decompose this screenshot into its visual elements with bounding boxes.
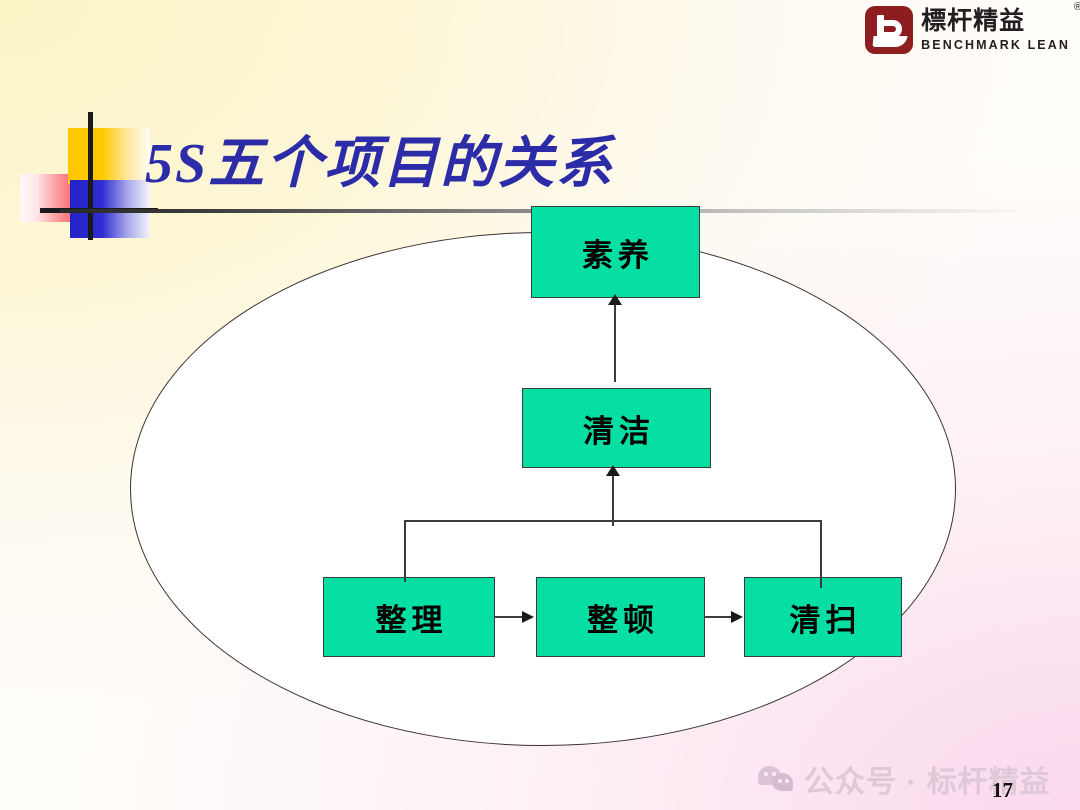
connector-group-to-qingjie (612, 468, 614, 526)
node-zhengli[interactable]: 整理 (323, 577, 495, 657)
wechat-icon (758, 766, 794, 792)
watermark-text: 公众号 · 标杆精益 (804, 757, 1051, 801)
connector-bottom-bracket (404, 520, 822, 522)
diagram-ellipse-container (130, 232, 956, 746)
arrowhead-group-to-qingjie-icon (606, 465, 620, 476)
arrowhead-zhengdun-to-qingsao-icon (731, 611, 743, 623)
node-suyang[interactable]: 素养 (531, 206, 700, 298)
arrowhead-zhengli-to-zhengdun-icon (522, 611, 534, 623)
page-number: 17 (992, 778, 1013, 803)
connector-bracket-to-zhengli (404, 520, 406, 582)
arrowhead-qingjie-to-suyang-icon (608, 294, 622, 305)
connector-qingjie-to-suyang (614, 298, 616, 382)
node-zhengdun[interactable]: 整顿 (536, 577, 705, 657)
connector-bracket-to-qingsao (820, 520, 822, 588)
node-qingjie[interactable]: 清洁 (522, 388, 711, 468)
slide-canvas: 標杆精益® BENCHMARK LEAN 5S五个项目的关系 素养 清洁 整理 … (0, 0, 1080, 810)
node-qingsao[interactable]: 清扫 (744, 577, 902, 657)
relationship-diagram: 素养 清洁 整理 整顿 清扫 (0, 0, 1080, 810)
